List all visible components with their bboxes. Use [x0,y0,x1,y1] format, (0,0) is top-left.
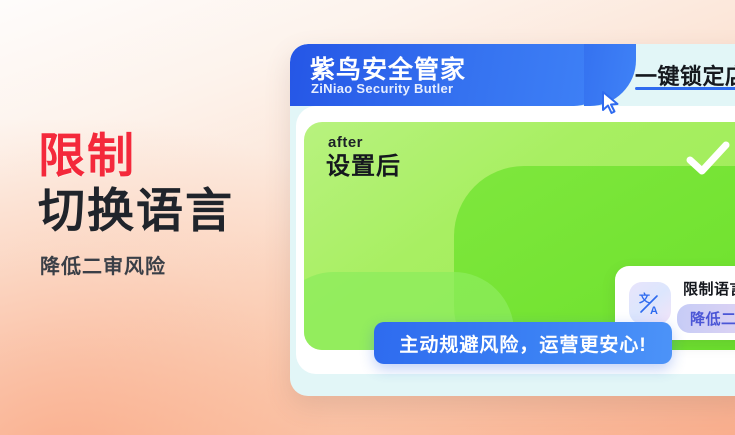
sub-headline: 降低二审风险 [40,250,288,279]
cta-button[interactable]: 主动规避风险，运营更安心! [374,322,672,364]
feature-badge: 降低二审风险 [677,304,735,333]
left-copy-block: 限制 切换语言 降低二审风险 [38,132,288,279]
product-card: after 设置后 文 A 限制语言切换 降低二审风险 amazon ZH ▾ [290,44,735,396]
translate-icon: 文 A [629,282,671,324]
headline-red: 限制 [38,132,288,180]
cta-label: 主动规避风险，运营更安心! [399,330,646,357]
promo-banner: 限制 切换语言 降低二审风险 after 设置后 文 A [0,0,735,435]
after-label-cn: 设置后 [326,146,401,181]
feature-title: 限制语言切换 [683,278,735,299]
headline-dark: 切换语言 [38,186,288,236]
check-mark-icon [686,140,730,176]
tagline-underline [635,87,735,90]
svg-text:A: A [650,305,658,316]
cursor-arrow-icon [600,90,622,116]
brand-name-en: ZiNiao Security Butler [311,81,453,96]
